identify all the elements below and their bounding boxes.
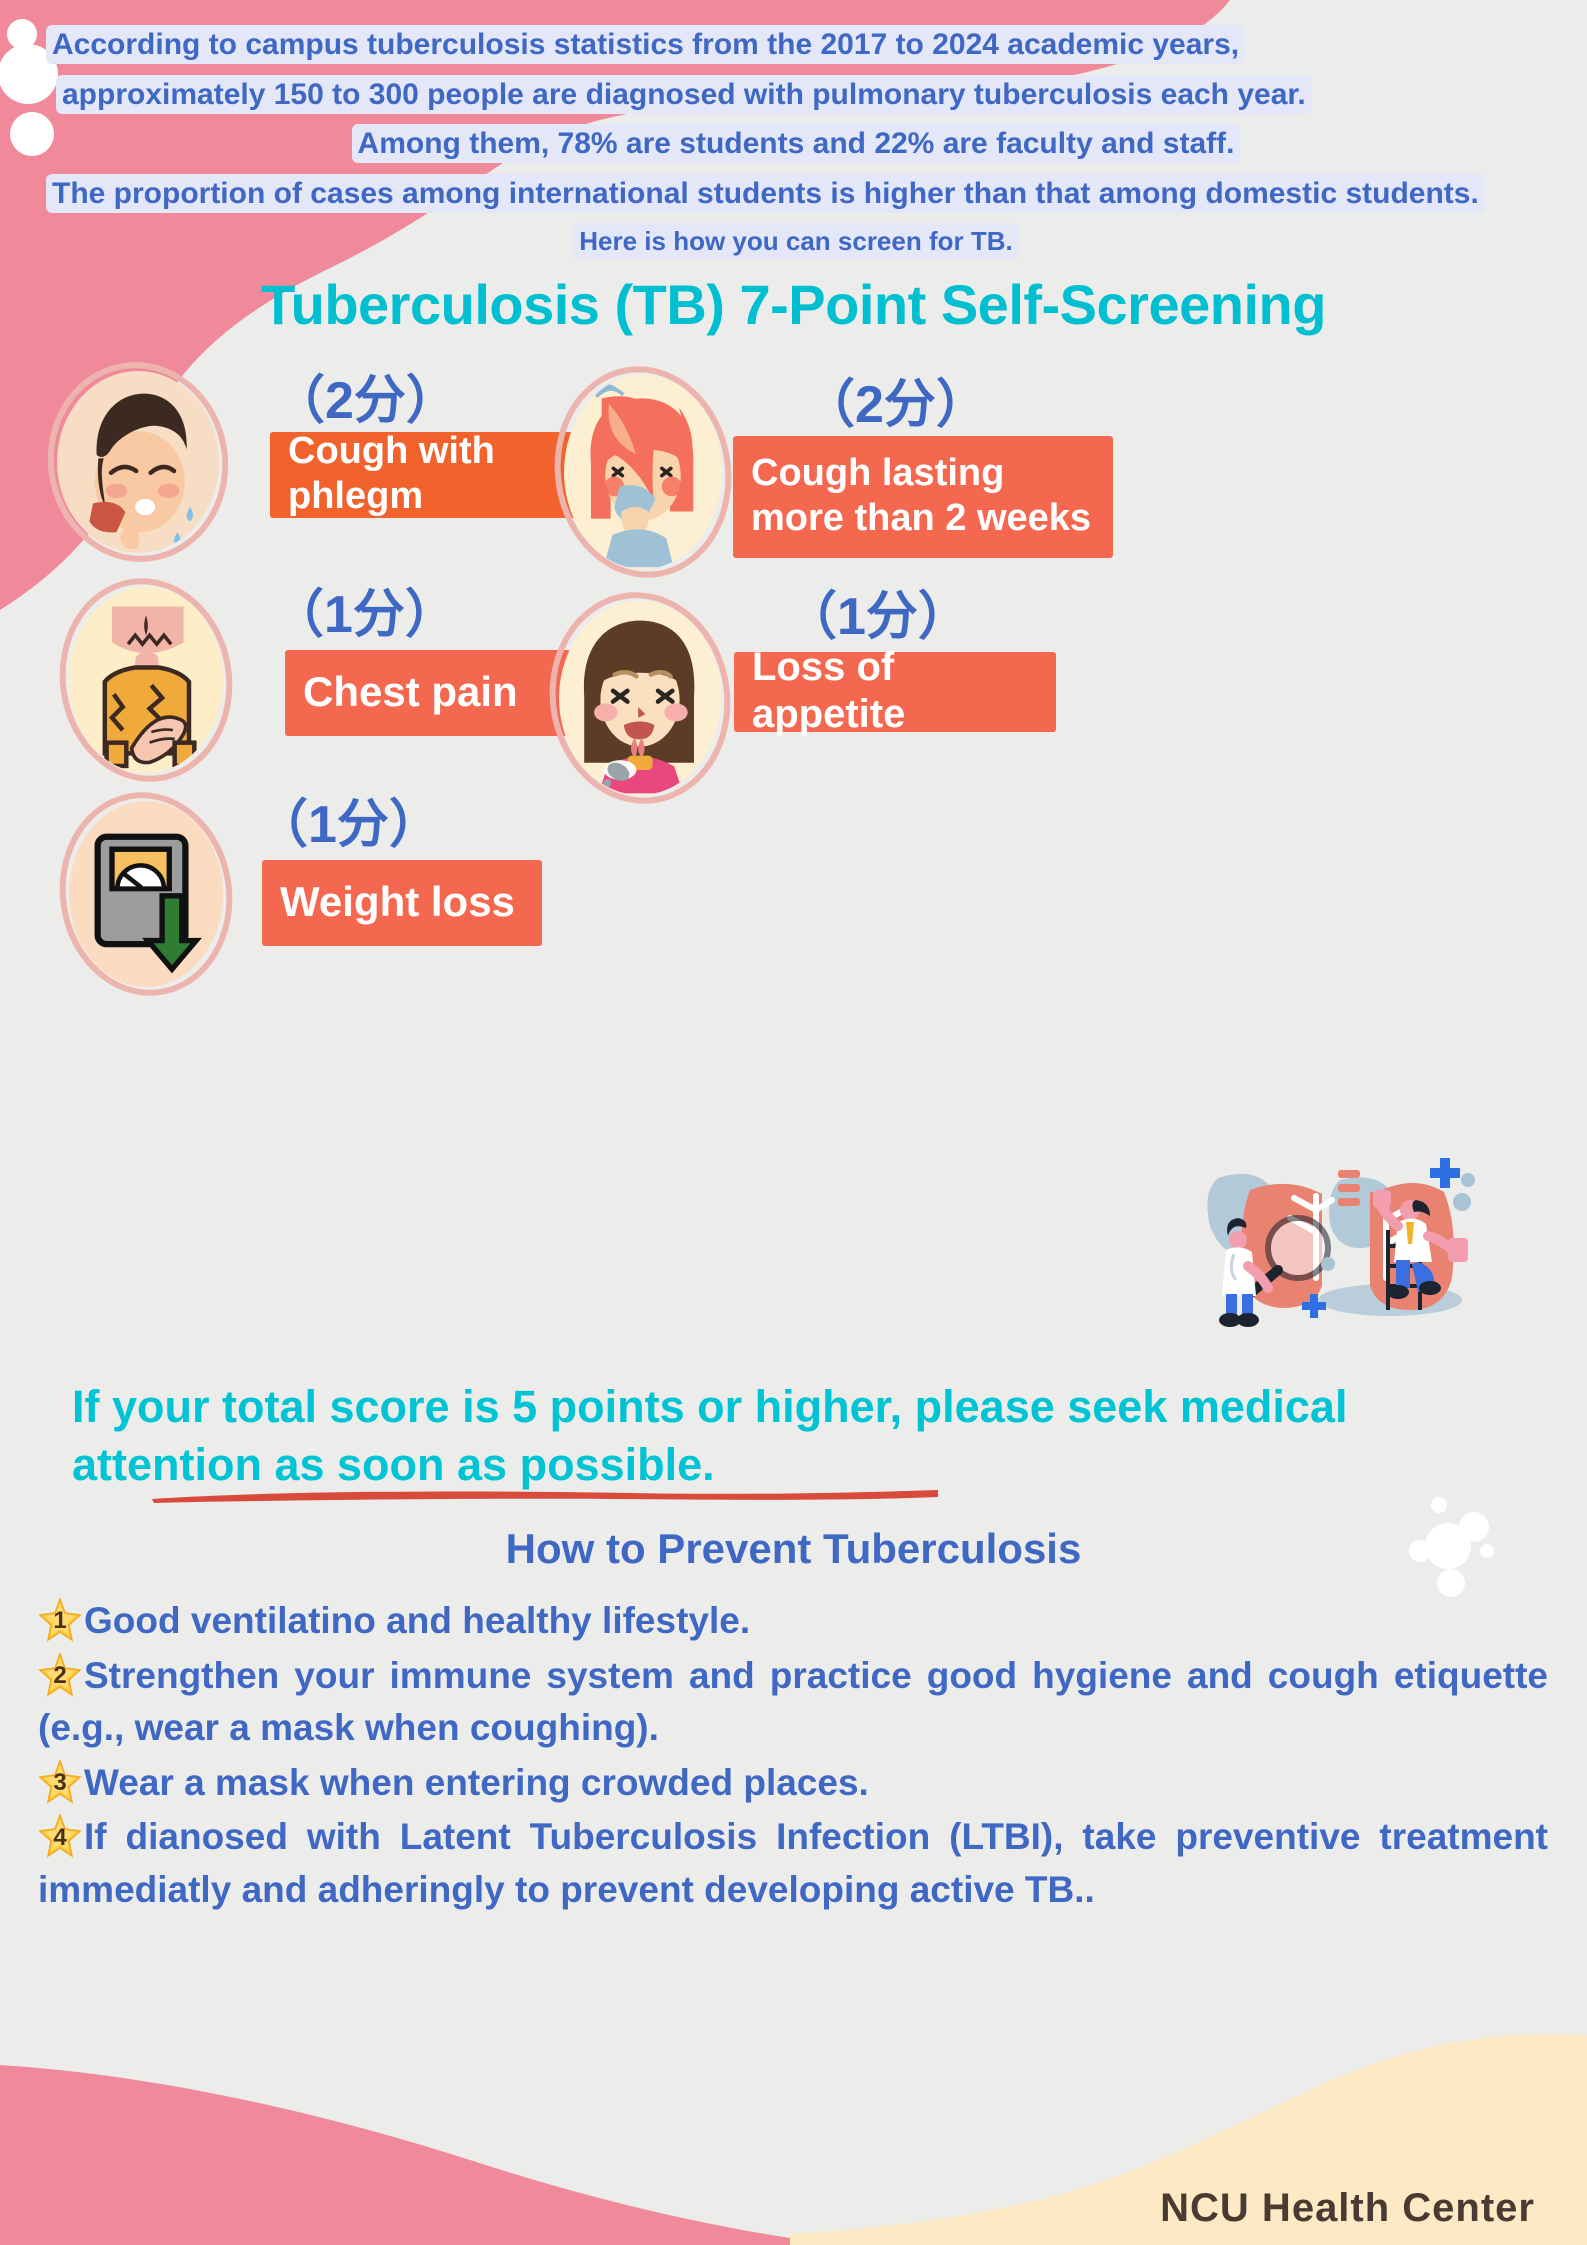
organization-name: NCU Health Center	[1160, 2186, 1535, 2231]
symptom-score: （1分）	[785, 574, 970, 649]
star-badge-icon: 3	[38, 1760, 82, 1804]
star-number: 2	[38, 1653, 82, 1697]
symptom-label: Cough with phlegm	[270, 432, 592, 518]
intro-line-4: The proportion of cases among internatio…	[46, 171, 1546, 217]
intro-line-1-text: According to campus tuberculosis statist…	[46, 25, 1245, 64]
coughing-boy-icon	[48, 362, 228, 562]
decorative-bubble	[1431, 1497, 1447, 1513]
star-number: 1	[38, 1598, 82, 1642]
no-appetite-icon	[550, 592, 730, 804]
star-badge-icon: 4	[38, 1814, 82, 1858]
page-title: Tuberculosis (TB) 7-Point Self-Screening	[0, 272, 1587, 337]
prevention-tip: 2 Strengthen your immune system and prac…	[38, 1650, 1548, 1755]
intro-line-4-text: The proportion of cases among internatio…	[46, 174, 1485, 213]
star-badge-icon: 1	[38, 1598, 82, 1642]
decorative-bubble	[1437, 1569, 1465, 1597]
symptom-label: Loss of appetite	[734, 652, 1056, 732]
doctor-right	[1373, 1190, 1468, 1310]
intro-paragraph: According to campus tuberculosis statist…	[46, 22, 1546, 266]
prevention-tip-text: Strengthen your immune system and practi…	[38, 1655, 1548, 1749]
prevention-tip-list: 1 Good ventilatino and healthy lifestyle…	[38, 1595, 1548, 1918]
chest-pain-icon	[60, 578, 232, 782]
prevention-title: How to Prevent Tuberculosis	[0, 1525, 1587, 1573]
intro-line-5: Here is how you can screen for TB.	[46, 222, 1546, 262]
decorative-dot	[7, 19, 37, 49]
coughing-girl-icon	[555, 366, 731, 578]
symptom-score: （1分）	[256, 782, 441, 857]
brush-underline	[150, 1488, 940, 1504]
prevention-tip-text: Good ventilatino and healthy lifestyle.	[84, 1600, 750, 1641]
symptom-score: （2分）	[803, 362, 988, 437]
symptom-label: Cough lasting more than 2 weeks	[733, 436, 1113, 558]
star-badge-icon: 2	[38, 1653, 82, 1697]
prevention-tip-text: If dianosed with Latent Tuberculosis Inf…	[38, 1816, 1548, 1910]
symptom-score: （1分）	[272, 572, 457, 647]
symptom-label: Weight loss	[262, 860, 542, 946]
prevention-tip: 4 If dianosed with Latent Tuberculosis I…	[38, 1811, 1548, 1916]
intro-line-2: approximately 150 to 300 people are diag…	[46, 72, 1546, 118]
warning-message: If your total score is 5 points or highe…	[72, 1378, 1502, 1493]
intro-line-3: Among them, 78% are students and 22% are…	[46, 121, 1546, 167]
pink-blob-bottom	[0, 2065, 840, 2245]
weight-scale-icon	[60, 792, 232, 996]
prevention-tip: 3 Wear a mask when entering crowded plac…	[38, 1757, 1548, 1810]
intro-line-2-text: approximately 150 to 300 people are diag…	[56, 75, 1312, 114]
prevention-tip: 1 Good ventilatino and healthy lifestyle…	[38, 1595, 1548, 1648]
intro-line-1: According to campus tuberculosis statist…	[46, 22, 1546, 68]
intro-line-5-text: Here is how you can screen for TB.	[573, 223, 1018, 259]
symptom-score: （2分）	[273, 358, 458, 433]
symptom-label: Chest pain	[285, 650, 570, 736]
star-number: 3	[38, 1760, 82, 1804]
prevention-tip-text: Wear a mask when entering crowded places…	[84, 1762, 869, 1803]
lungs-examination-icon	[1190, 1150, 1500, 1355]
star-number: 4	[38, 1814, 82, 1858]
intro-line-3-text: Among them, 78% are students and 22% are…	[352, 124, 1241, 163]
